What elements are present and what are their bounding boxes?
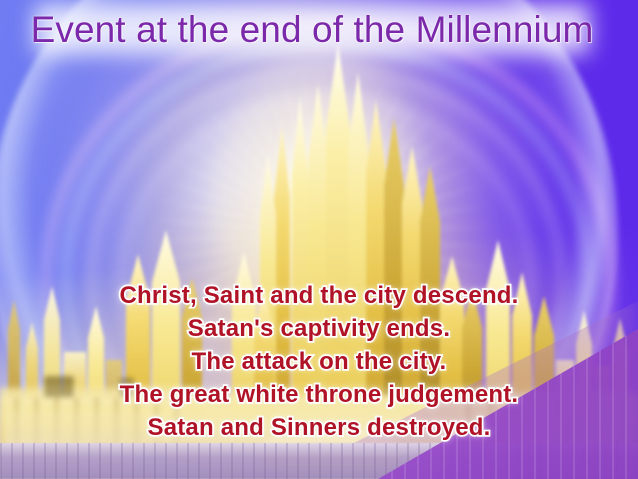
body-line: The great white throne judgement. [120,378,519,411]
slide-title-container: Event at the end of the Millennium [34,4,590,54]
body-line: Satan and Sinners destroyed. [147,411,490,444]
body-line: The attack on the city. [192,345,447,378]
presentation-slide: Event at the end of the Millennium Chris… [0,0,638,479]
body-line: Christ, Saint and the city descend. [119,279,518,312]
slide-title: Event at the end of the Millennium [34,4,590,54]
body-line: Satan's captivity ends. [188,312,450,345]
slide-body: Christ, Saint and the city descend. Sata… [0,279,638,444]
